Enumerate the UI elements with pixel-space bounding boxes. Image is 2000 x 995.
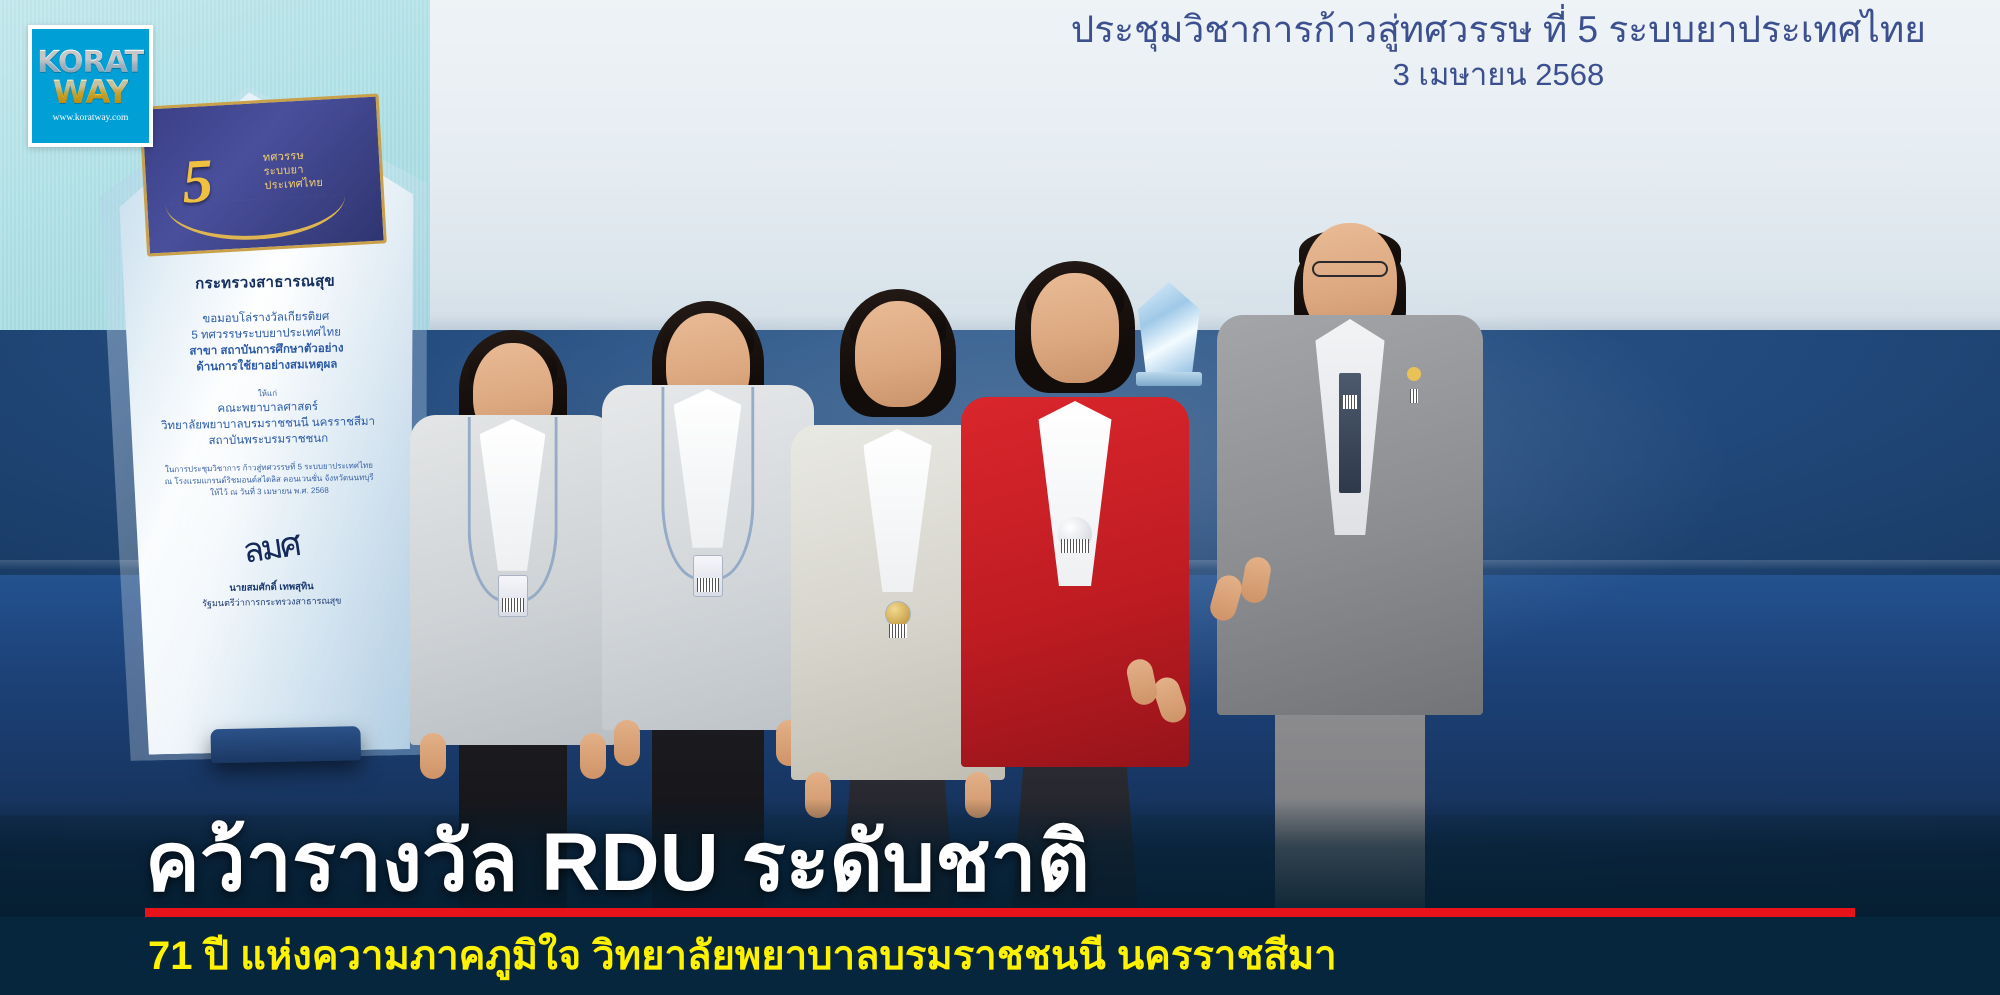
news-graphic: 5 ทศวรรษ ระบบยา ประเทศไทย กระทรวงสาธารณส… [0,0,2000,995]
logo-text-way: WAY [53,77,129,107]
event-date: 3 เมษายน 2568 [1071,54,1926,96]
emblem-caption: ทศวรรษ ระบบยา ประเทศไทย [262,148,323,193]
person-5-tie [1339,373,1361,493]
headline-banner: คว้ารางวัล RDU ระดับชาติ 71 ปี แห่งความภ… [0,805,2000,995]
logo-url: www.koratway.com [53,113,129,123]
headline-sub-text: 71 ปี แห่งความภาคภูมิใจ วิทยาลัยพยาบาลบร… [148,930,1337,982]
plaque-ministry: กระทรวงสาธารณสุข [141,267,389,296]
award-plaque: 5 ทศวรรษ ระบบยา ประเทศไทย กระทรวงสาธารณส… [111,89,425,755]
person-4-brooch [1058,517,1092,551]
headline-main-row: คว้ารางวัล RDU ระดับชาติ [0,805,2000,917]
plaque-inscription: กระทรวงสาธารณสุข ขอมอบโล่รางวัลเกียรติยศ… [141,267,396,611]
person-1-hand-left [420,733,446,779]
person-1-torso [410,415,616,745]
person-3-pendant [885,601,911,627]
person-2-hand-left [614,720,640,766]
person-3-head [855,301,941,407]
crystal-award-base [1136,372,1202,386]
person-2-badge [693,555,723,597]
person-2-torso [602,385,814,730]
plaque-base [210,726,361,763]
person-4-torso [961,397,1189,767]
koratway-logo-inner: KORAT WAY www.koratway.com [32,29,149,143]
emblem-swoosh-icon [165,194,347,244]
emblem-line-3: ประเทศไทย [264,176,323,193]
person-4-head [1031,273,1119,383]
person-5-glasses-icon [1312,261,1388,277]
koratway-logo[interactable]: KORAT WAY www.koratway.com [28,25,153,147]
headline-main-text: คว้ารางวัล RDU ระดับชาติ [145,811,2000,915]
event-header: ประชุมวิชาการก้าวสู่ทศวรรษ ที่ 5 ระบบยาป… [1071,6,1926,96]
person-5-torso [1217,315,1483,715]
plaque-emblem-panel: 5 ทศวรรษ ระบบยา ประเทศไทย [139,93,387,256]
person-1-badge [498,575,528,617]
headline-red-rule [145,908,1855,917]
event-title: ประชุมวิชาการก้าวสู่ทศวรรษ ที่ 5 ระบบยาป… [1071,6,1926,54]
person-2-lanyard [661,387,754,580]
person-1-hand-right [580,733,606,779]
headline-sub-bar: 71 ปี แห่งความภาคภูมิใจ วิทยาลัยพยาบาลบร… [0,917,2000,995]
person-5-lapel-pin [1407,367,1421,381]
